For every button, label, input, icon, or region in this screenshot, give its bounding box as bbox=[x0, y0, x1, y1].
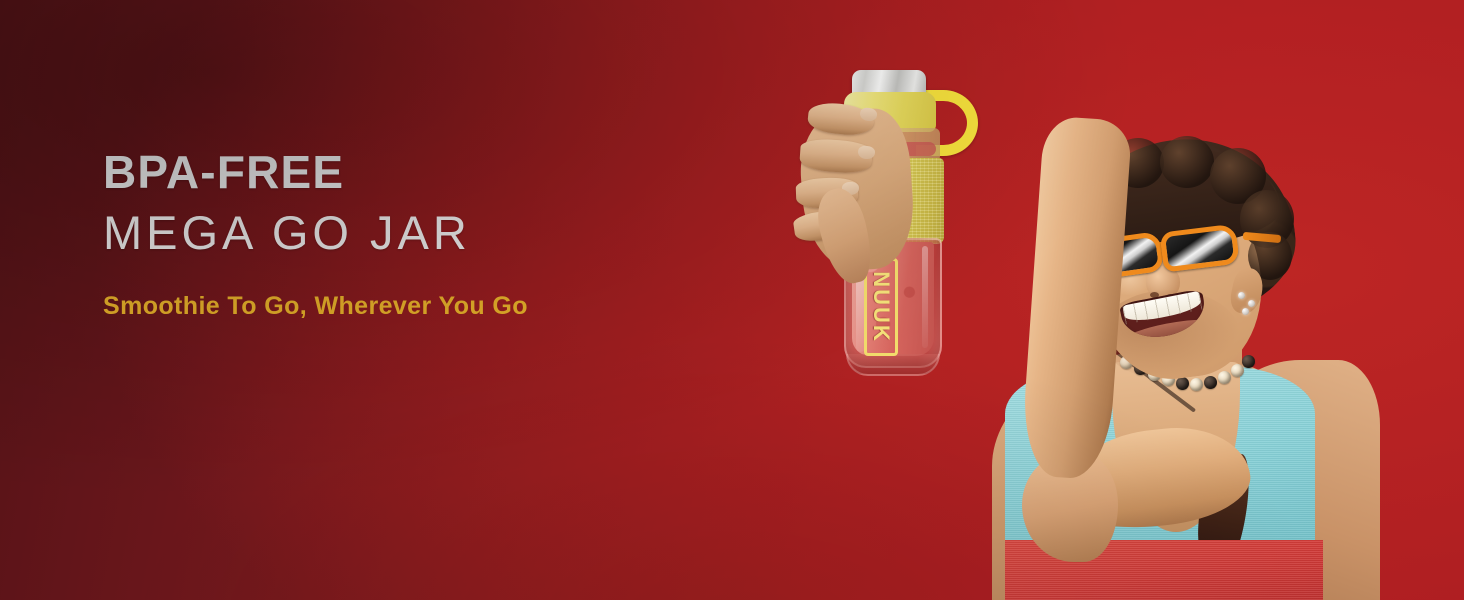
brand-label-text: NUUK bbox=[868, 271, 894, 343]
sunglass-lens-right bbox=[1160, 224, 1240, 273]
hair-curl bbox=[1160, 136, 1214, 188]
jar-highlight bbox=[922, 246, 928, 348]
earring-icon bbox=[1238, 292, 1245, 299]
banner-copy-block: BPA-FREE MEGA GO JAR Smoothie To Go, Whe… bbox=[103, 149, 723, 319]
earring-icon bbox=[1248, 300, 1255, 307]
jar-base bbox=[846, 354, 940, 376]
promotional-banner: BPA-FREE MEGA GO JAR Smoothie To Go, Whe… bbox=[0, 0, 1464, 600]
earring-icon bbox=[1242, 308, 1249, 315]
product-name: MEGA GO JAR bbox=[103, 209, 723, 256]
tagline: Smoothie To Go, Wherever You Go bbox=[103, 294, 723, 319]
brand-label: NUUK bbox=[864, 258, 898, 356]
model-photo: NUUK bbox=[760, 0, 1464, 600]
page-title: BPA-FREE bbox=[103, 149, 723, 195]
